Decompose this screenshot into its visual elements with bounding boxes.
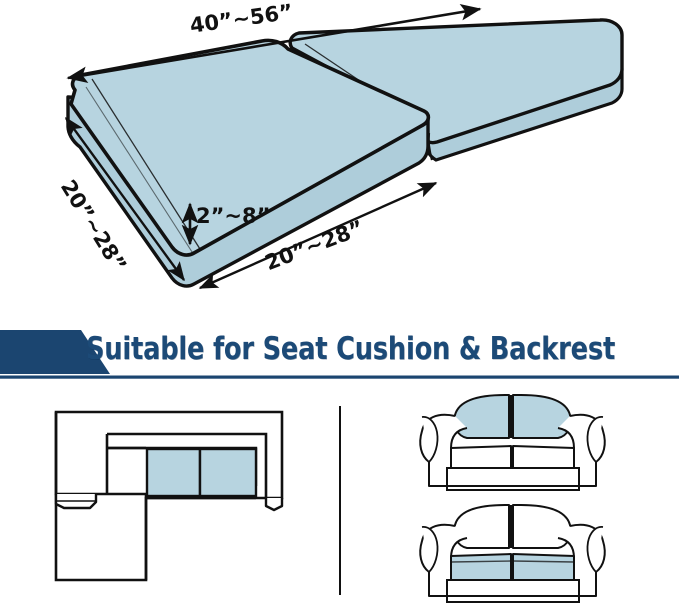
product-infographic: 40”~56” 20”~28” 2”~8” 20”~28” Suitable f…	[0, 0, 679, 612]
panel-divider	[339, 406, 341, 595]
section-banner: Suitable for Seat Cushion & Backrest	[0, 326, 679, 382]
sectional-sofa-top-view	[4, 384, 334, 612]
backrest-cushion-left	[455, 505, 510, 548]
loveseat-seat-highlighted	[355, 492, 675, 610]
armrest-right	[266, 498, 282, 510]
backrest-cushion-left	[455, 395, 510, 438]
cushion-dimension-diagram: 40”~56” 20”~28” 2”~8” 20”~28”	[0, 0, 679, 310]
banner-rule	[0, 376, 679, 379]
usage-examples	[0, 384, 679, 612]
highlighted-cushion-2	[200, 449, 256, 496]
seat-cushion-right	[513, 446, 574, 468]
seat-crease-right	[513, 561, 574, 562]
backrest-cushion-right	[513, 505, 571, 548]
highlighted-cushion-1	[147, 449, 200, 496]
highlighted-seat-cushion-right	[513, 554, 574, 580]
loveseat-backrest-highlighted	[355, 386, 675, 498]
highlighted-seat-cushion-left	[451, 554, 511, 580]
banner-title: Suitable for Seat Cushion & Backrest	[27, 326, 652, 374]
thickness-dimension-label: 2”~8”	[196, 204, 270, 228]
seat-crease-left	[451, 561, 511, 562]
sofa-base	[447, 580, 579, 602]
seat-cushion-left	[451, 446, 511, 468]
backrest-cushion-right	[513, 395, 571, 438]
